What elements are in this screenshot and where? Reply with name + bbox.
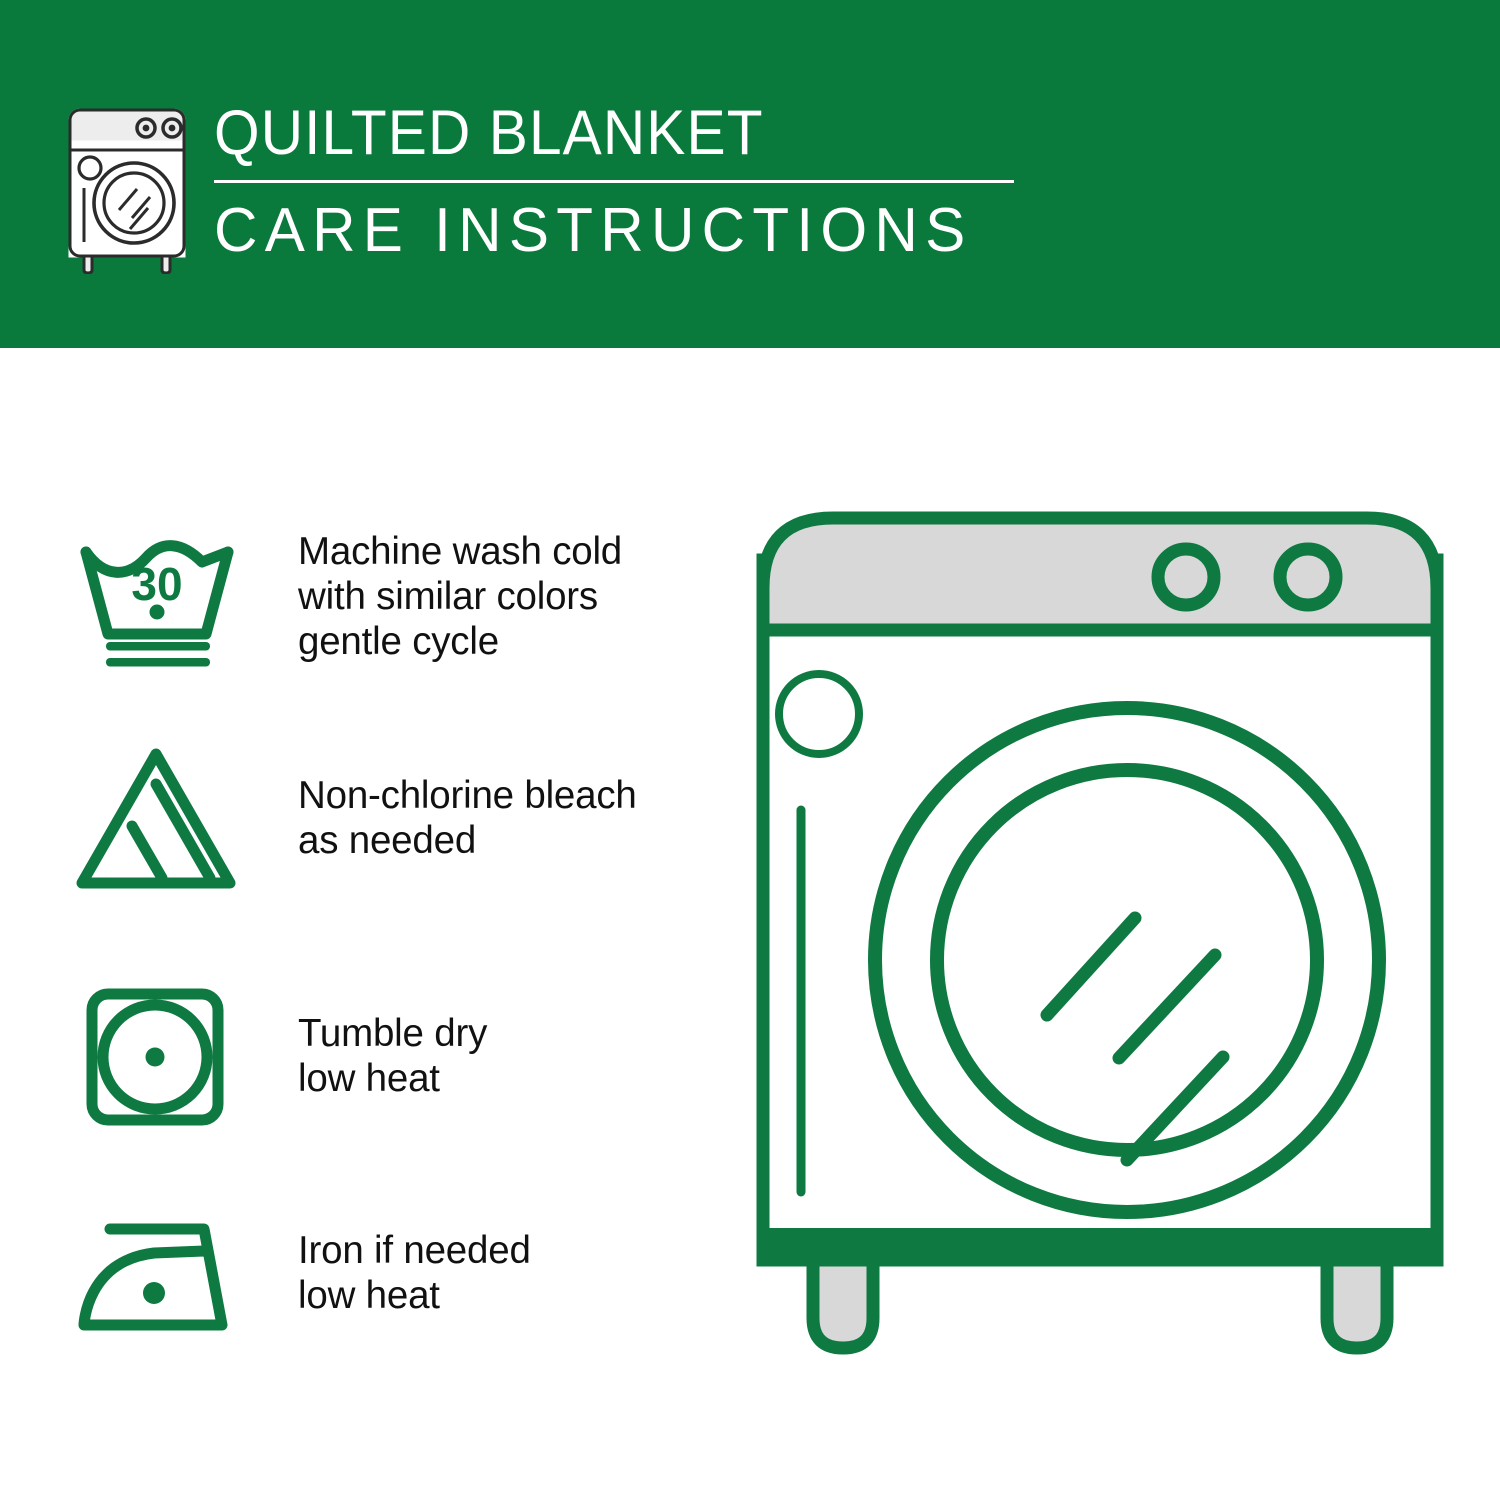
header-titles: QUILTED BLANKET CARE INSTRUCTIONS [214,98,1014,265]
list-item: Non-chlorine bleach as needed [70,738,710,898]
non-chlorine-bleach-triangle-icon [70,738,245,898]
care-instructions-list: 30 Machine wash cold with similar colors… [0,348,740,1500]
list-item: Iron if needed low heat [70,1193,710,1353]
tumble-dry-low-icon [70,976,245,1136]
iron-low-heat-icon [70,1193,245,1353]
header-banner: QUILTED BLANKET CARE INSTRUCTIONS [0,0,1500,348]
title-divider [214,180,1014,183]
list-item: Tumble dry low heat [70,976,710,1136]
wash-temperature-label: 30 [131,558,182,610]
list-item-label: Non-chlorine bleach as needed [298,773,637,863]
list-item: 30 Machine wash cold with similar colors… [70,516,710,676]
header-content: QUILTED BLANKET CARE INSTRUCTIONS [62,98,1014,274]
page-subtitle: CARE INSTRUCTIONS [214,197,990,265]
leg-right [1327,1260,1387,1348]
page-title: QUILTED BLANKET [214,98,958,168]
wash-tub-30-gentle-icon: 30 [70,516,245,676]
front-load-washing-machine-illustration [735,470,1465,1430]
list-item-label: Machine wash cold with similar colors ge… [298,529,622,664]
list-item-label: Iron if needed low heat [298,1228,531,1318]
leg-left [813,1260,873,1348]
list-item-label: Tumble dry low heat [298,1011,487,1101]
washing-machine-icon [62,106,192,274]
